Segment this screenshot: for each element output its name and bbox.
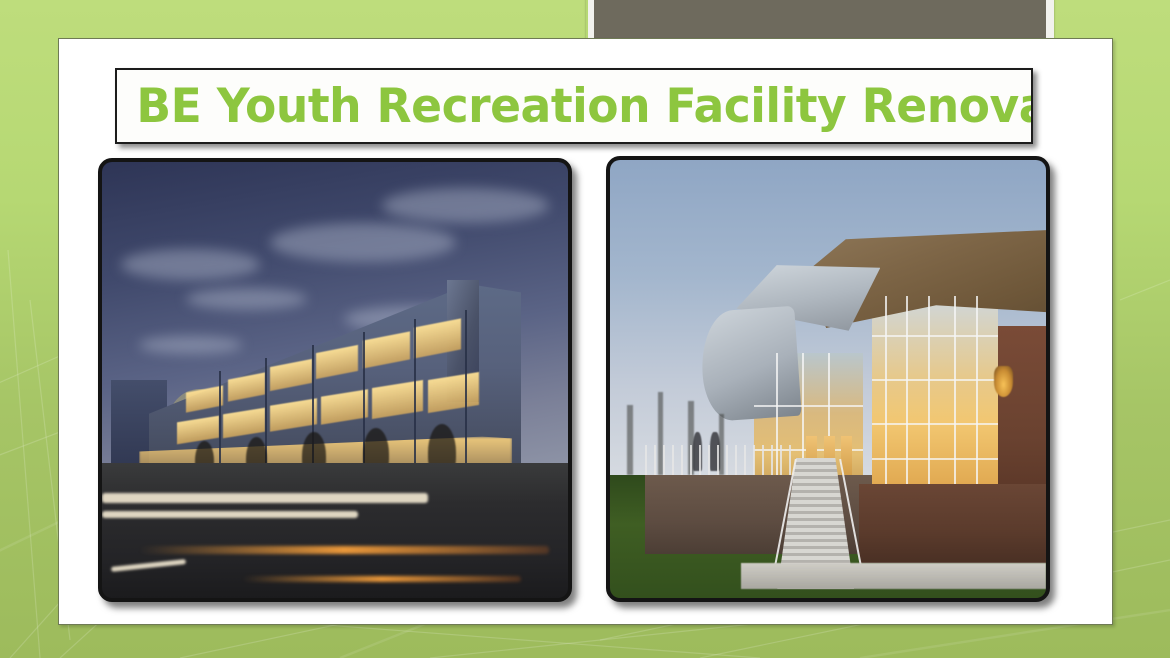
bare-tree	[627, 405, 632, 475]
light-trail	[139, 546, 549, 554]
cloud	[270, 223, 456, 262]
photo-left-image	[102, 162, 568, 598]
wall-sconce-light	[994, 366, 1014, 397]
window-transom	[872, 335, 998, 337]
photo-recreation-facility-entrance[interactable]	[606, 156, 1050, 602]
photo-right-image	[610, 160, 1046, 598]
curved-roof-edge	[698, 306, 801, 422]
window-mullion	[219, 371, 221, 476]
window-mullion	[465, 310, 467, 476]
cloud	[121, 249, 261, 280]
concrete-walkway	[741, 563, 1046, 589]
page-title: BE Youth Recreation Facility Renovated	[117, 83, 1033, 130]
light-trail	[242, 576, 522, 582]
cloud	[382, 188, 550, 223]
low-brick-wall	[859, 484, 1046, 563]
window-transom	[872, 379, 998, 381]
light-trail	[102, 511, 358, 518]
light-trail	[102, 493, 428, 503]
window-transom	[872, 423, 998, 425]
slide-title-box: BE Youth Recreation Facility Renovated	[115, 68, 1033, 144]
window-transom	[754, 405, 863, 407]
window-mullion	[414, 319, 416, 476]
photo-recreation-facility-exterior-dusk[interactable]	[98, 158, 572, 602]
cloud	[139, 336, 242, 353]
window-transom	[872, 458, 998, 460]
presentation-slide: BE Youth Recreation Facility Renovated	[0, 0, 1170, 658]
